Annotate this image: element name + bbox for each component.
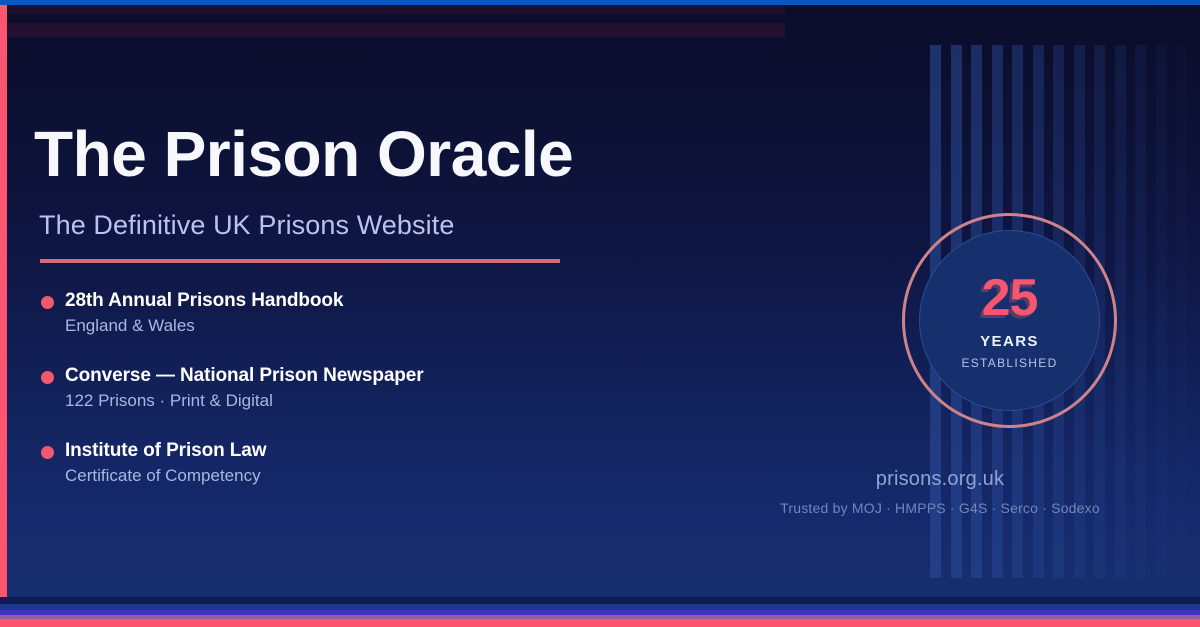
promo-banner: The Prison Oracle The Definitive UK Pris…	[0, 0, 1200, 627]
offering-title: 28th Annual Prisons Handbook	[65, 290, 734, 312]
badge-caption: ESTABLISHED	[961, 356, 1057, 370]
bottom-bar-pink	[0, 619, 1200, 627]
list-item[interactable]: Institute of Prison Law Certificate of C…	[34, 440, 734, 486]
list-item[interactable]: Converse — National Prison Newspaper 122…	[34, 365, 734, 411]
list-item[interactable]: 28th Annual Prisons Handbook England & W…	[34, 290, 734, 336]
offering-subtitle: Certificate of Competency	[65, 466, 734, 486]
offering-title: Converse — National Prison Newspaper	[65, 365, 734, 387]
footer: prisons.org.uk Trusted by MOJ · HMPPS · …	[720, 468, 1160, 516]
page-subtitle: The Definitive UK Prisons Website	[39, 210, 734, 241]
offering-subtitle: 122 Prisons · Print & Digital	[65, 391, 734, 411]
offering-title: Institute of Prison Law	[65, 440, 734, 462]
badge-unit: YEARS	[980, 333, 1039, 350]
left-accent-bar	[0, 5, 7, 613]
dot-icon	[41, 446, 54, 459]
dot-icon	[41, 371, 54, 384]
main-content: The Prison Oracle The Definitive UK Pris…	[34, 122, 734, 486]
title-divider	[40, 259, 560, 263]
bottom-accent-stack	[0, 597, 1200, 627]
offering-subtitle: England & Wales	[65, 316, 734, 336]
badge-number: 25	[982, 272, 1038, 324]
anniversary-badge: 25 YEARS ESTABLISHED	[902, 213, 1117, 428]
top-haze-band-secondary	[0, 23, 785, 37]
anniversary-badge-inner: 25 YEARS ESTABLISHED	[919, 230, 1100, 411]
top-haze-band	[0, 5, 785, 14]
page-title: The Prison Oracle	[34, 122, 734, 186]
bottom-bar-navy	[0, 597, 1200, 604]
dot-icon	[41, 296, 54, 309]
trusted-by-text: Trusted by MOJ · HMPPS · G4S · Serco · S…	[720, 500, 1160, 516]
website-url[interactable]: prisons.org.uk	[720, 468, 1160, 491]
offerings-list: 28th Annual Prisons Handbook England & W…	[34, 290, 734, 486]
prison-bar-stripe	[1176, 45, 1187, 578]
